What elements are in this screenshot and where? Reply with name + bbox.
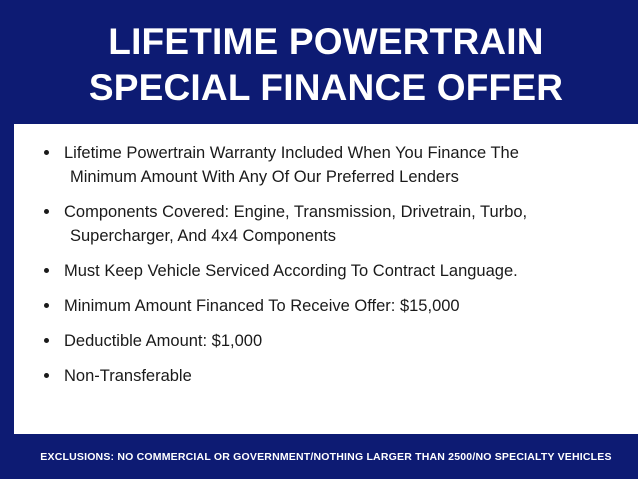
list-item: Components Covered: Engine, Transmission… [28,201,620,248]
bullet-content: Lifetime Powertrain Warranty Included Wh… [14,124,638,434]
header-title-line-2: SPECIAL FINANCE OFFER [89,65,563,111]
slide-footer: EXCLUSIONS: NO COMMERCIAL OR GOVERNMENT/… [14,434,638,479]
list-item-text: Must Keep Vehicle Serviced According To … [64,260,620,283]
list-item-line-1: Non-Transferable [64,367,192,385]
list-item: Must Keep Vehicle Serviced According To … [28,260,620,283]
list-item-text: Lifetime Powertrain Warranty Included Wh… [64,142,620,189]
bullet-dot-icon [44,268,49,273]
bullet-dot-icon [44,373,49,378]
list-item: Lifetime Powertrain Warranty Included Wh… [28,142,620,189]
list-item-text: Deductible Amount: $1,000 [64,330,620,353]
list-item-text: Non-Transferable [64,365,620,388]
list-item-line-2: Minimum Amount With Any Of Our Preferred… [64,166,620,189]
list-item-line-2: Supercharger, And 4x4 Components [64,225,620,248]
list-item-line-1: Must Keep Vehicle Serviced According To … [64,262,518,280]
bullet-dot-icon [44,150,49,155]
header-title-line-1: LIFETIME POWERTRAIN [108,19,543,65]
list-item-line-1: Components Covered: Engine, Transmission… [64,203,527,221]
list-item: Non-Transferable [28,365,620,388]
list-item-text: Minimum Amount Financed To Receive Offer… [64,295,620,318]
bullet-list: Lifetime Powertrain Warranty Included Wh… [28,142,620,388]
list-item: Minimum Amount Financed To Receive Offer… [28,295,620,318]
list-item-text: Components Covered: Engine, Transmission… [64,201,620,248]
offer-slide: LIFETIME POWERTRAIN SPECIAL FINANCE OFFE… [0,0,638,479]
bullet-dot-icon [44,209,49,214]
slide-header: LIFETIME POWERTRAIN SPECIAL FINANCE OFFE… [14,0,638,124]
list-item-line-1: Deductible Amount: $1,000 [64,332,262,350]
bullet-dot-icon [44,303,49,308]
list-item-line-1: Minimum Amount Financed To Receive Offer… [64,297,460,315]
list-item-line-1: Lifetime Powertrain Warranty Included Wh… [64,144,519,162]
bullet-dot-icon [44,338,49,343]
left-accent-bar [0,0,14,479]
exclusions-text: EXCLUSIONS: NO COMMERCIAL OR GOVERNMENT/… [40,451,611,463]
list-item: Deductible Amount: $1,000 [28,330,620,353]
